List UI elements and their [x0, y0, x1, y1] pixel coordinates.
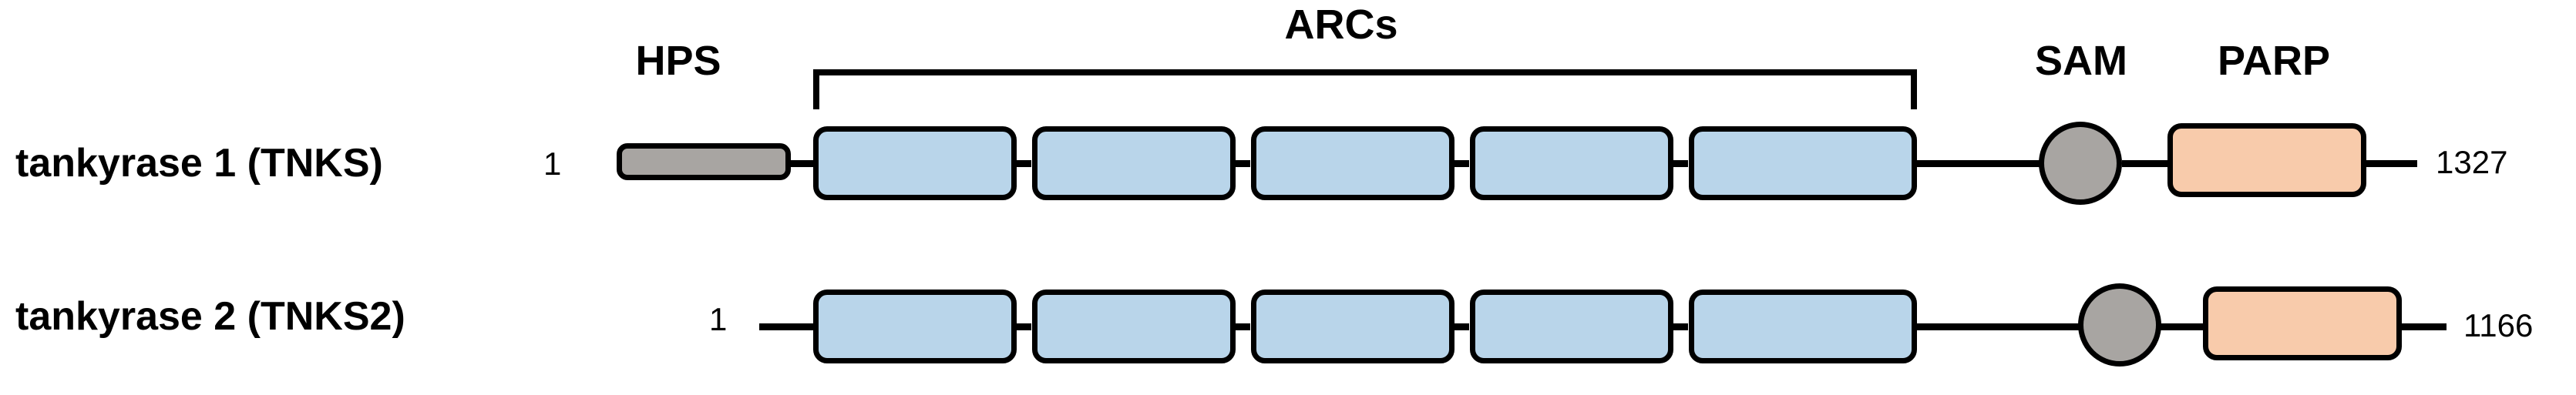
domain-box-arc4-tnks1 [1470, 126, 1673, 200]
arcs-bracket-right-tick [1911, 69, 1917, 109]
end-residue-tnks1: 1327 [2436, 146, 2507, 179]
domain-label-hps: HPS [609, 40, 748, 82]
domain-box-hps-tnks1 [617, 143, 791, 180]
backbone-segment-start-arc1-tnks2 [759, 323, 819, 330]
domain-label-parp: PARP [2189, 40, 2359, 82]
start-residue-tnks1: 1 [543, 148, 561, 180]
domain-box-arc3-tnks1 [1251, 126, 1454, 200]
domain-label-sam: SAM [2004, 40, 2158, 82]
backbone-segment-sam-parp [2122, 160, 2170, 167]
domain-box-arc1-tnks1 [813, 126, 1017, 200]
domain-box-arc5-tnks1 [1689, 126, 1917, 200]
backbone-segment-parp-end-tnks2 [2399, 323, 2447, 330]
domain-circle-sam-tnks2 [2078, 283, 2161, 367]
start-residue-tnks2: 1 [709, 303, 727, 336]
domain-box-arc1-tnks2 [813, 290, 1017, 363]
backbone-segment-sam-parp-tnks2 [2158, 323, 2206, 330]
backbone-segment-arc5-sam-tnks2 [1913, 323, 2081, 330]
domain-box-arc3-tnks2 [1251, 290, 1454, 363]
domain-box-arc4-tnks2 [1470, 290, 1673, 363]
arcs-bracket-top [813, 69, 1917, 75]
domain-box-arc2-tnks1 [1032, 126, 1236, 200]
end-residue-tnks2: 1166 [2463, 310, 2533, 342]
backbone-segment-arc5-sam [1912, 160, 2043, 167]
protein-domain-diagram: HPS ARCs SAM PARP tankyrase 1 (TNKS) 1 1… [0, 0, 2576, 395]
arcs-bracket-left-tick [813, 69, 819, 109]
protein-label-tnks2: tankyrase 2 (TNKS2) [15, 296, 405, 336]
domain-box-arc5-tnks2 [1689, 290, 1917, 363]
backbone-segment-parp-end [2362, 160, 2417, 167]
domain-box-parp-tnks1 [2167, 123, 2366, 197]
domain-box-parp-tnks2 [2203, 286, 2402, 360]
domain-circle-sam-tnks1 [2039, 122, 2122, 205]
domain-label-arcs: ARCs [1256, 4, 1426, 45]
protein-label-tnks1: tankyrase 1 (TNKS) [15, 143, 383, 183]
domain-box-arc2-tnks2 [1032, 290, 1236, 363]
